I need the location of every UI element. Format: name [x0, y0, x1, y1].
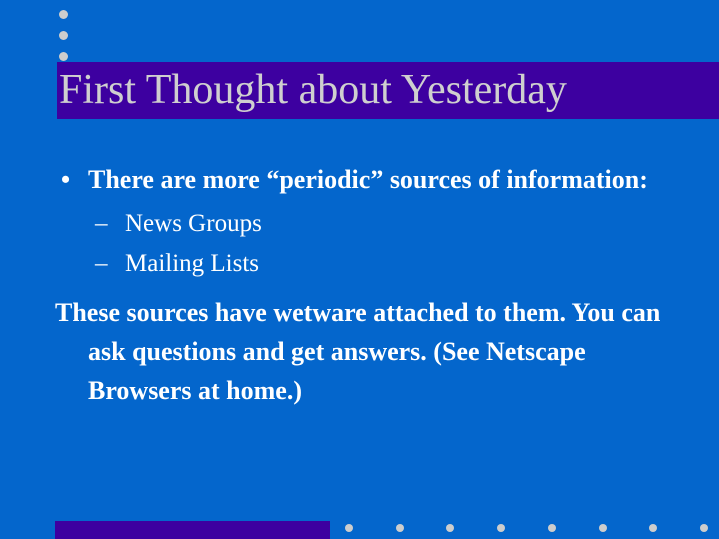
- bottom-accent-bar: [55, 521, 330, 539]
- slide-canvas: First Thought about Yesterday • There ar…: [0, 0, 719, 539]
- sub-bullet-text: News Groups: [125, 210, 262, 237]
- decor-dot-icon: [59, 52, 68, 61]
- sub-list: – News Groups – Mailing Lists: [55, 204, 655, 284]
- bottom-dot-decoration: [345, 524, 705, 536]
- dash-marker-icon: –: [95, 244, 108, 284]
- slide-body: • There are more “periodic” sources of i…: [55, 160, 655, 410]
- decor-dot-icon: [700, 524, 708, 532]
- top-left-dot-decoration: [59, 6, 71, 62]
- list-item: • There are more “periodic” sources of i…: [55, 160, 655, 199]
- bullet-dot-icon: •: [61, 160, 70, 199]
- list-item: – News Groups: [55, 204, 655, 244]
- bullet-text: There are more “periodic” sources of inf…: [88, 160, 655, 199]
- list-item: – Mailing Lists: [55, 244, 655, 284]
- decor-dot-icon: [599, 524, 607, 532]
- body-paragraph: These sources have wetware attached to t…: [55, 293, 668, 410]
- decor-dot-icon: [345, 524, 353, 532]
- title-banner: First Thought about Yesterday: [57, 62, 719, 119]
- sub-bullet-text: Mailing Lists: [125, 250, 259, 277]
- decor-dot-icon: [396, 524, 404, 532]
- decor-dot-icon: [446, 524, 454, 532]
- decor-dot-icon: [548, 524, 556, 532]
- dash-marker-icon: –: [95, 204, 108, 244]
- page-title: First Thought about Yesterday: [57, 62, 719, 119]
- decor-dot-icon: [649, 524, 657, 532]
- decor-dot-icon: [497, 524, 505, 532]
- decor-dot-icon: [59, 31, 68, 40]
- decor-dot-icon: [59, 10, 68, 19]
